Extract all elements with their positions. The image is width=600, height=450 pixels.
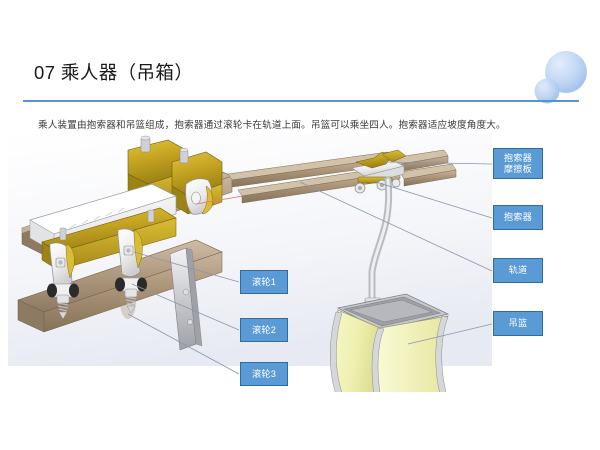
- callout-rail-label: 轨道: [509, 265, 528, 276]
- title-divider: [23, 100, 579, 102]
- decorative-circles-group: [528, 48, 590, 108]
- callout-roller-2[interactable]: 滚轮2: [240, 318, 288, 342]
- callout-roller-1-label: 滚轮1: [252, 277, 276, 288]
- callout-rail[interactable]: 轨道: [493, 258, 543, 283]
- callout-grip[interactable]: 抱索器: [493, 205, 543, 230]
- callout-roller-3-label: 滚轮3: [252, 369, 276, 380]
- slide-subtitle: 乘人装置由抱索器和吊篮组成，抱索器通过滚轮卡在轨道上面。吊篮可以乘坐四人。抱索器…: [38, 117, 506, 131]
- callout-friction-plate-label: 抱索器 摩擦板: [504, 153, 532, 175]
- callout-roller-3[interactable]: 滚轮3: [240, 362, 288, 386]
- callout-roller-1[interactable]: 滚轮1: [240, 270, 288, 294]
- callout-cabin[interactable]: 吊篮: [493, 311, 543, 336]
- callout-roller-2-label: 滚轮2: [252, 325, 276, 336]
- callout-friction-plate[interactable]: 抱索器 摩擦板: [493, 148, 543, 179]
- cabin: [330, 294, 448, 392]
- callout-grip-label: 抱索器: [504, 212, 532, 223]
- callout-cabin-label: 吊篮: [509, 318, 528, 329]
- grip-clamp-right: [186, 179, 213, 215]
- page-title: 07 乘人器（吊箱）: [34, 59, 193, 85]
- decorative-circle-large: [545, 51, 587, 93]
- slide-canvas: 07 乘人器（吊箱） 乘人装置由抱索器和吊篮组成，抱索器通过滚轮卡在轨道上面。吊…: [0, 0, 600, 450]
